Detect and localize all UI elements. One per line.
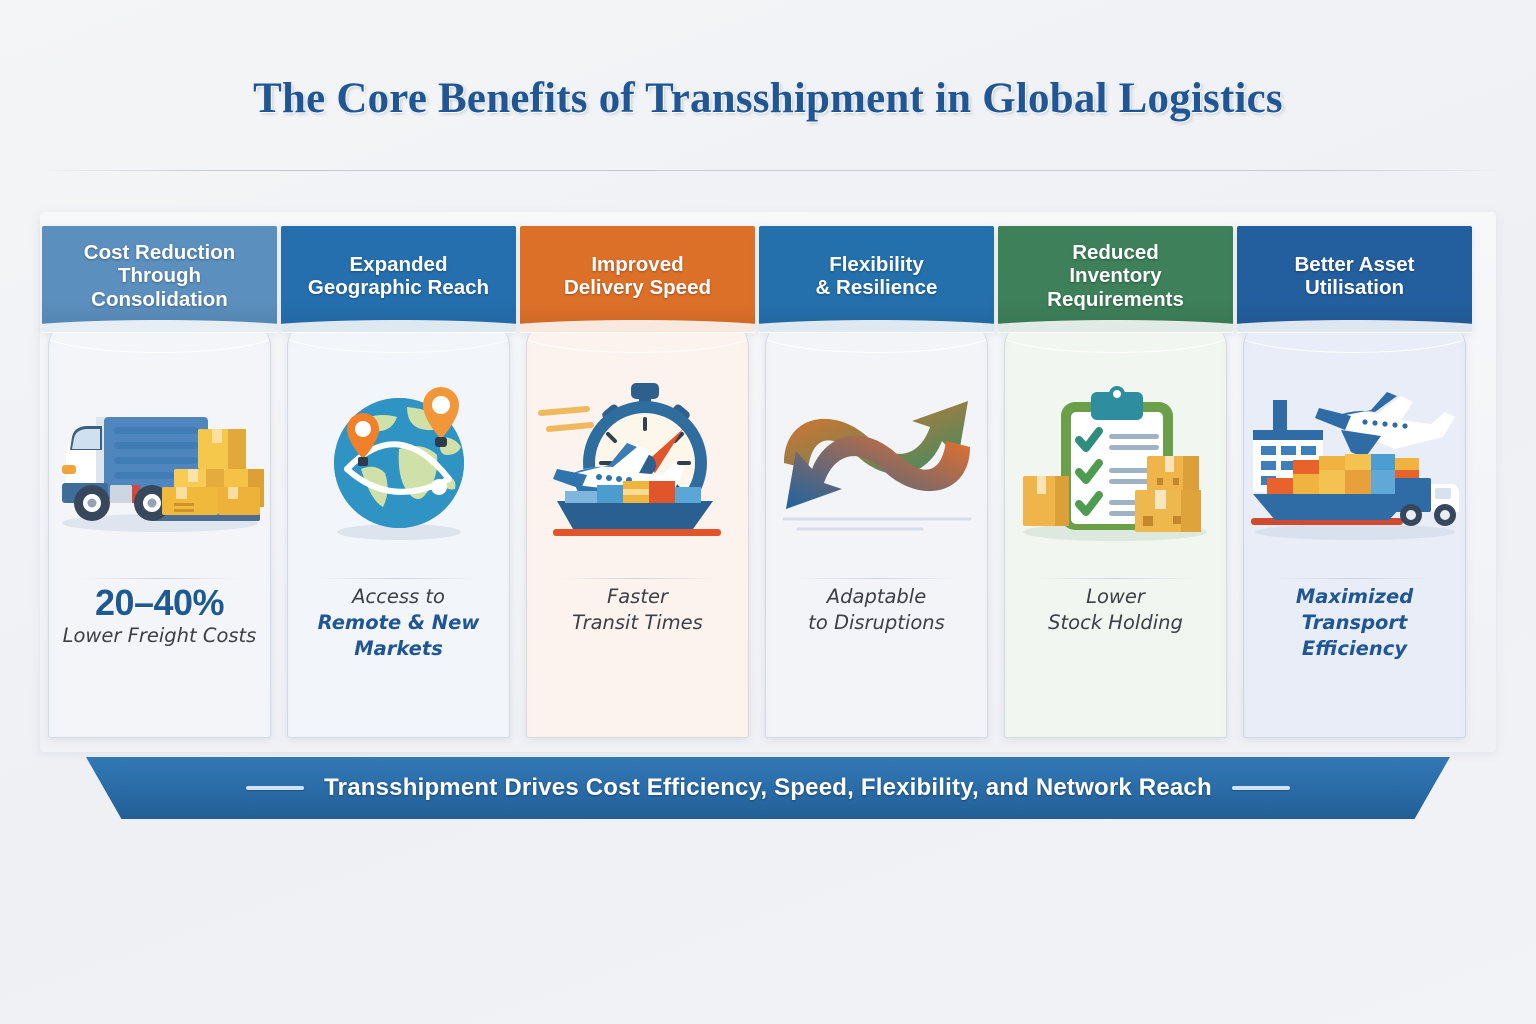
column-caption: Adaptable to Disruptions	[766, 578, 987, 737]
column-header: Flexibility & Resilience	[759, 226, 994, 332]
benefit-column-cost-reduction[interactable]: Cost Reduction Through Consolidation	[42, 226, 277, 738]
benefit-column-asset-utilisation[interactable]: Better Asset Utilisation	[1237, 226, 1472, 738]
column-caption: Access to Remote & New Markets	[288, 578, 509, 737]
benefit-column-flexibility[interactable]: Flexibility & Resilience	[759, 226, 994, 738]
summary-banner: Transshipment Drives Cost Efficiency, Sp…	[86, 757, 1450, 819]
column-body: Access to Remote & New Markets	[287, 324, 510, 738]
column-body: Maximized Transport Efficiency	[1243, 324, 1466, 738]
column-header: Reduced Inventory Requirements	[998, 226, 1233, 332]
benefit-column-reduced-inventory[interactable]: Reduced Inventory Requirements	[998, 226, 1233, 738]
column-body: Lower Stock Holding	[1004, 324, 1227, 738]
benefit-columns: Cost Reduction Through Consolidation	[42, 226, 1494, 738]
banner-dash-left	[246, 786, 304, 790]
clipboard-checklist-boxes-icon	[1005, 324, 1226, 578]
page-title: The Core Benefits of Transshipment in Gl…	[0, 74, 1536, 123]
benefit-column-expanded-reach[interactable]: Expanded Geographic Reach	[281, 226, 516, 738]
column-body: Adaptable to Disruptions	[765, 324, 988, 738]
benefit-column-delivery-speed[interactable]: Improved Delivery Speed	[520, 226, 755, 738]
column-body: Faster Transit Times	[526, 324, 749, 738]
column-body: 20–40% Lower Freight Costs	[48, 324, 271, 738]
ship-plane-truck-warehouse-icon	[1244, 324, 1465, 578]
caption-highlight: Remote & New Markets	[318, 611, 480, 660]
caption-highlight: Maximized Transport Efficiency	[1296, 585, 1413, 660]
caption-text: Adaptable to Disruptions	[808, 585, 945, 634]
column-caption: Maximized Transport Efficiency	[1244, 578, 1465, 737]
title-divider	[34, 170, 1502, 171]
caption-text: Access to	[352, 585, 445, 608]
caption-text: Lower Stock Holding	[1048, 585, 1183, 634]
column-header: Improved Delivery Speed	[520, 226, 755, 332]
column-header: Better Asset Utilisation	[1237, 226, 1472, 332]
banner-dash-right	[1232, 786, 1290, 790]
column-header: Cost Reduction Through Consolidation	[42, 226, 277, 332]
caption-text: Lower Freight Costs	[63, 624, 257, 647]
globe-with-route-pins-icon	[288, 324, 509, 578]
delivery-truck-with-boxes-icon	[49, 324, 270, 578]
crossing-exchange-arrows-icon	[766, 324, 987, 578]
infographic-canvas: The Core Benefits of Transshipment in Gl…	[0, 0, 1536, 1024]
column-header: Expanded Geographic Reach	[281, 226, 516, 332]
caption-metric: 20–40%	[59, 584, 260, 623]
stopwatch-plane-ship-icon	[527, 324, 748, 578]
column-caption: 20–40% Lower Freight Costs	[49, 578, 270, 737]
column-caption: Lower Stock Holding	[1005, 578, 1226, 737]
banner-text: Transshipment Drives Cost Efficiency, Sp…	[324, 774, 1212, 802]
caption-text: Faster Transit Times	[572, 585, 703, 634]
column-caption: Faster Transit Times	[527, 578, 748, 737]
